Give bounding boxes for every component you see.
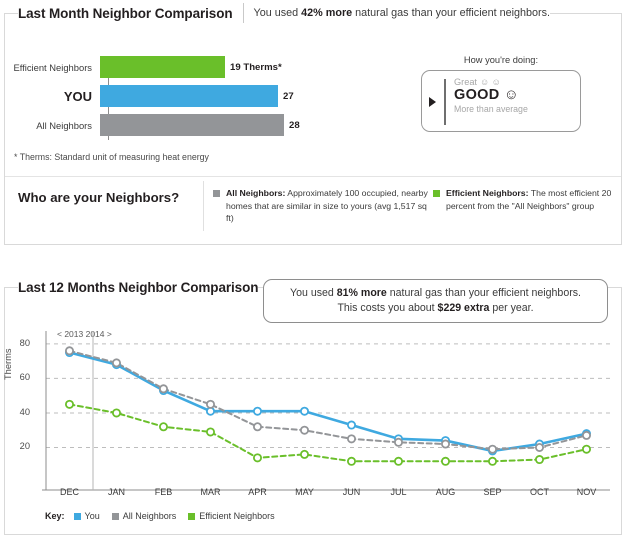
callout-line1-post: natural gas than your efficient neighbor…: [387, 287, 581, 299]
energy-report-page: Last Month Neighbor Comparison You used …: [0, 0, 626, 542]
callout-line-1: You used 81% more natural gas than your …: [290, 286, 581, 301]
efficient-neighbors-swatch: [433, 190, 440, 197]
page-title: Last Month Neighbor Comparison: [18, 6, 233, 21]
data-point: [66, 347, 73, 354]
scale-line: [444, 79, 446, 125]
y-axis-tick: 80: [8, 338, 30, 348]
callout-line2-pre: This costs you about: [337, 302, 437, 314]
neighbors-question: Who are your Neighbors?: [18, 190, 179, 205]
legend-text: You: [85, 511, 100, 521]
summary-pre: You used: [254, 7, 302, 19]
data-point: [536, 444, 543, 451]
callout-percent: 81% more: [337, 287, 387, 299]
last-12-months-header: Last 12 Months Neighbor Comparison: [18, 276, 258, 298]
all-neighbors-swatch: [213, 190, 220, 197]
summary-post: natural gas than your efficient neighbor…: [352, 7, 550, 19]
data-point: [207, 428, 214, 435]
data-point: [583, 446, 590, 453]
how-youre-doing-scale: Great ☺ ☺ GOOD ☺ More than average: [454, 77, 528, 114]
last-12-months-title: Last 12 Months Neighbor Comparison: [18, 280, 258, 295]
data-point: [442, 458, 449, 465]
x-axis-tick: SEP: [471, 487, 515, 497]
smiley-face-icon: ☺: [504, 87, 519, 103]
legend-label: Key:: [45, 511, 65, 521]
efficient-neighbors-name: Efficient Neighbors:: [446, 188, 529, 198]
bar-label: Efficient Neighbors: [12, 62, 100, 73]
rating-current-label: GOOD: [454, 87, 500, 103]
how-youre-doing-title: How you're doing:: [421, 55, 581, 65]
data-point: [301, 408, 308, 415]
callout-line2-post: per year.: [489, 302, 533, 314]
bar-track: 27: [100, 85, 294, 107]
x-axis-tick: JAN: [95, 487, 139, 497]
legend-swatch: [188, 513, 195, 520]
data-point: [254, 454, 261, 461]
data-point: [301, 451, 308, 458]
x-axis-tick: NOV: [565, 487, 609, 497]
neighbors-divider: [203, 181, 204, 231]
data-point: [160, 385, 167, 392]
who-are-neighbors-section: Who are your Neighbors? All Neighbors: A…: [5, 176, 621, 237]
bar-row: YOU27: [12, 85, 342, 107]
legend-text: Efficient Neighbors: [199, 511, 274, 521]
last-month-summary: You used 42% more natural gas than your …: [254, 7, 551, 19]
bar-fill: [100, 114, 284, 136]
legend-swatch: [74, 513, 81, 520]
neighbor-definition-efficient: Efficient Neighbors: The most efficient …: [433, 187, 626, 212]
bar-value: 27: [283, 91, 294, 102]
x-axis-tick: FEB: [142, 487, 186, 497]
data-point: [583, 432, 590, 439]
bar-label: YOU: [12, 89, 100, 104]
legend-items: YouAll NeighborsEfficient Neighbors: [74, 511, 275, 521]
bar-fill: [100, 56, 225, 78]
data-point: [489, 458, 496, 465]
data-point: [254, 423, 261, 430]
legend-item: Efficient Neighbors: [188, 511, 274, 521]
legend-item: You: [74, 511, 100, 521]
legend-item: All Neighbors: [112, 511, 177, 521]
annual-savings-callout: You used 81% more natural gas than your …: [263, 279, 608, 323]
therms-footnote: * Therms: Standard unit of measuring hea…: [14, 152, 209, 162]
neighbor-definition-all: All Neighbors: Approximately 100 occupie…: [213, 187, 428, 225]
rating-great-label: Great: [454, 77, 477, 87]
data-point: [348, 421, 355, 428]
data-point: [66, 401, 73, 408]
bar-fill: [100, 85, 278, 107]
header-divider: [243, 3, 244, 23]
data-point: [160, 423, 167, 430]
data-point: [536, 456, 543, 463]
how-youre-doing-widget: How you're doing: Great ☺ ☺ GOOD ☺ More …: [421, 55, 581, 132]
callout-line1-pre: You used: [290, 287, 337, 299]
series-line: [70, 351, 587, 449]
x-axis-tick: DEC: [48, 487, 92, 497]
callout-cost: $229 extra: [438, 302, 490, 314]
legend-swatch: [112, 513, 119, 520]
summary-percent: 42% more: [301, 7, 352, 19]
x-axis-tick: AUG: [424, 487, 468, 497]
rating-note: More than average: [454, 104, 528, 114]
y-axis-tick: 40: [8, 407, 30, 417]
data-point: [348, 435, 355, 442]
x-axis-tick: OCT: [518, 487, 562, 497]
data-point: [113, 359, 120, 366]
bar-track: 28: [100, 114, 300, 136]
pointer-arrow-icon: [429, 97, 436, 107]
data-point: [113, 409, 120, 416]
last-month-header: Last Month Neighbor Comparison You used …: [18, 2, 550, 24]
data-point: [442, 440, 449, 447]
x-axis-tick: JUN: [330, 487, 374, 497]
how-youre-doing-box: Great ☺ ☺ GOOD ☺ More than average: [421, 70, 581, 132]
last-month-bar-chart: Efficient Neighbors19 Therms*YOU27All Ne…: [12, 52, 342, 152]
bar-row: Efficient Neighbors19 Therms*: [12, 56, 342, 78]
y-axis-tick: 60: [8, 372, 30, 382]
callout-line-2: This costs you about $229 extra per year…: [337, 301, 533, 316]
x-axis-tick: JUL: [377, 487, 421, 497]
bar-row: All Neighbors28: [12, 114, 342, 136]
data-point: [254, 408, 261, 415]
data-point: [489, 446, 496, 453]
y-axis-tick: 20: [8, 441, 30, 451]
bar-track: 19 Therms*: [100, 56, 282, 78]
x-axis-tick: APR: [236, 487, 280, 497]
legend-text: All Neighbors: [123, 511, 177, 521]
rating-current: GOOD ☺: [454, 87, 528, 104]
series-line: [70, 353, 587, 451]
rating-great: Great ☺ ☺: [454, 77, 528, 87]
data-point: [301, 427, 308, 434]
data-point: [395, 439, 402, 446]
bar-value: 28: [289, 120, 300, 131]
smiley-faces-icon: ☺ ☺: [480, 77, 501, 87]
data-point: [348, 458, 355, 465]
all-neighbors-name: All Neighbors:: [226, 188, 285, 198]
chart-legend: Key: YouAll NeighborsEfficient Neighbors: [45, 511, 275, 521]
bar-label: All Neighbors: [12, 120, 100, 131]
x-axis-tick: MAR: [189, 487, 233, 497]
x-axis-tick: MAY: [283, 487, 327, 497]
bar-value: 19 Therms*: [230, 62, 282, 73]
data-point: [395, 458, 402, 465]
data-point: [207, 401, 214, 408]
